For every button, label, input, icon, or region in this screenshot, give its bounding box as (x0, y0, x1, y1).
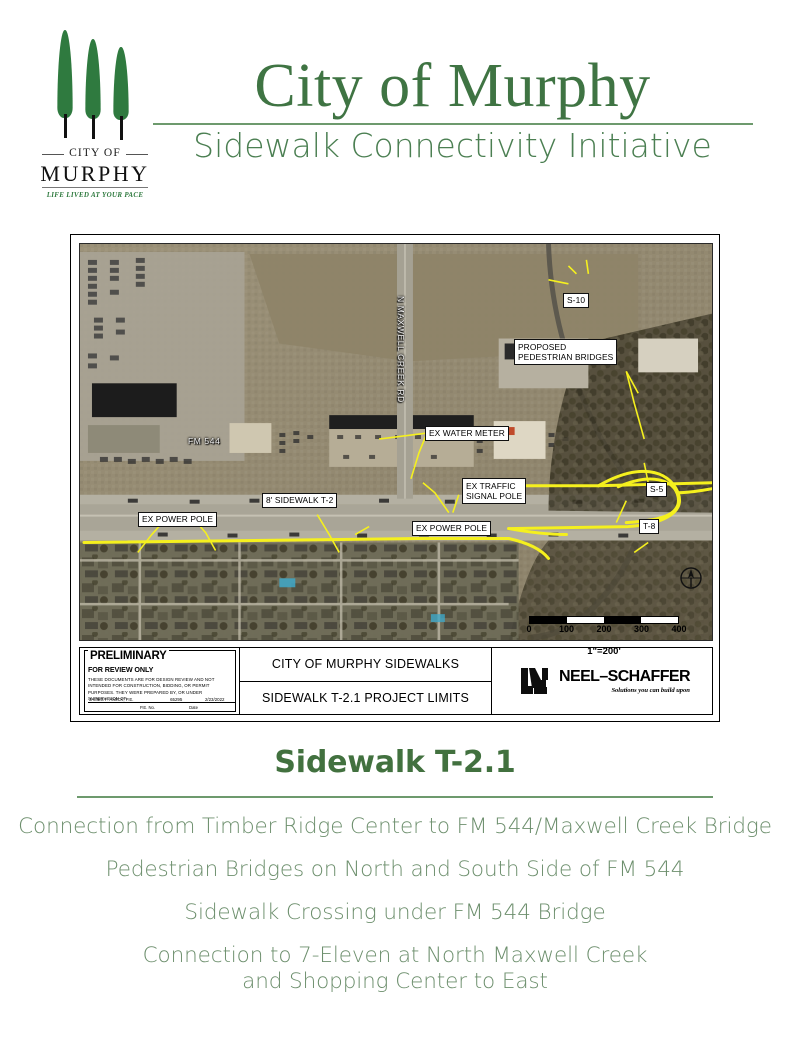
stamp-date-label: Date (189, 705, 198, 710)
footer-line-2: Pedestrian Bridges on North and South Si… (0, 857, 790, 883)
street-label-maxwell-creek: N MAXWELL CREEK RD (396, 296, 406, 403)
stamp-engineer-name: JAMES P. AMICK, P.E. (88, 697, 159, 703)
footer-description-list: Connection from Timber Ridge Center to F… (0, 814, 790, 996)
stamp-subheading: FOR REVIEW ONLY (88, 665, 232, 674)
footer-line-3: Sidewalk Crossing under FM 544 Bridge (0, 900, 790, 926)
title-divider (153, 123, 753, 125)
footer-line-1: Connection from Timber Ridge Center to F… (0, 814, 790, 840)
stamp-signature-row: JAMES P. AMICK, P.E. 65295 2/23/2022 (88, 697, 236, 703)
street-label-fm544: FM 544 (188, 436, 220, 446)
callout-traffic-line2: SIGNAL POLE (466, 491, 522, 502)
firm-name: NEEL–SCHAFFER (559, 669, 690, 685)
scale-tick-1: 100 (559, 624, 574, 634)
scale-tick-4: 400 (671, 624, 686, 634)
page-subtitle: Sidewalk Connectivity Initiative (150, 127, 755, 165)
project-line-2: SIDEWALK T-2.1 PROJECT LIMITS (240, 682, 491, 715)
callout-s5: S-5 (646, 482, 667, 497)
project-line-1: CITY OF MURPHY SIDEWALKS (240, 648, 491, 682)
scale-tick-3: 300 (634, 624, 649, 634)
stamp-date: 2/23/2022 (193, 697, 236, 703)
page-title: City of Murphy (150, 55, 755, 117)
footer-divider (77, 796, 713, 798)
callout-proposed-line2: PEDESTRIAN BRIDGES (518, 352, 613, 363)
callout-s10: S-10 (563, 293, 589, 308)
neel-schaffer-mark-icon (520, 666, 554, 696)
footer-line-4: Connection to 7-Eleven at North Maxwell … (0, 943, 790, 969)
callout-ex-water-meter: EX WATER METER (425, 426, 509, 441)
engineering-firm-logo: NEEL–SCHAFFER Solutions you can build up… (492, 648, 712, 714)
plan-sheet: N MAXWELL CREEK RD FM 544 S-10 PROPOSED … (70, 234, 720, 722)
logo-city-of-text: CITY OF (40, 147, 150, 159)
north-arrow-icon (678, 565, 704, 591)
callout-proposed-line1: PROPOSED (518, 342, 613, 353)
preliminary-stamp: PRELIMINARY FOR REVIEW ONLY THESE DOCUME… (80, 648, 240, 714)
stamp-heading: PRELIMINARY (88, 650, 169, 662)
city-logo: CITY OF MURPHY LIFE LIVED AT YOUR PACE (40, 25, 150, 200)
project-name-block: CITY OF MURPHY SIDEWALKS SIDEWALK T-2.1 … (240, 648, 492, 714)
callout-ex-power-pole-center: EX POWER POLE (412, 521, 491, 536)
footer-line-5: and Shopping Center to East (0, 969, 790, 995)
stamp-pe-number: 65295 (159, 697, 193, 703)
callout-proposed-pedestrian-bridges: PROPOSED PEDESTRIAN BRIDGES (514, 339, 617, 365)
scale-bar-segments (529, 616, 679, 624)
firm-tagline: Solutions you can build upon (559, 687, 690, 694)
scale-bar-ticks: 0 100 200 300 400 (529, 624, 679, 636)
callout-ex-power-pole-left: EX POWER POLE (138, 512, 217, 527)
poster-page: CITY OF MURPHY LIFE LIVED AT YOUR PACE C… (0, 0, 790, 1053)
stamp-signature-labels: P.E. No. Date (88, 705, 236, 710)
drawing-title-block: PRELIMINARY FOR REVIEW ONLY THESE DOCUME… (79, 647, 713, 715)
callout-t8: T-8 (639, 519, 659, 534)
callout-sidewalk-t2: 8' SIDEWALK T-2 (262, 493, 337, 508)
logo-murphy-text: MURPHY (40, 161, 150, 187)
aerial-map[interactable]: N MAXWELL CREEK RD FM 544 S-10 PROPOSED … (79, 243, 713, 641)
scale-tick-2: 200 (596, 624, 611, 634)
scale-tick-0: 0 (526, 624, 531, 634)
callout-traffic-line1: EX TRAFFIC (466, 481, 522, 492)
logo-murphy-rule (42, 187, 148, 188)
page-header: CITY OF MURPHY LIFE LIVED AT YOUR PACE C… (0, 0, 790, 218)
cypress-tree-icon (40, 25, 150, 145)
logo-tagline: LIFE LIVED AT YOUR PACE (40, 191, 150, 199)
page-footer: Sidewalk T-2.1 Connection from Timber Ri… (0, 745, 790, 996)
stamp-pe-label: P.E. No. (140, 705, 155, 710)
header-title-block: City of Murphy Sidewalk Connectivity Ini… (150, 55, 755, 164)
footer-title: Sidewalk T-2.1 (0, 745, 790, 780)
callout-ex-traffic-signal-pole: EX TRAFFIC SIGNAL POLE (462, 478, 526, 504)
